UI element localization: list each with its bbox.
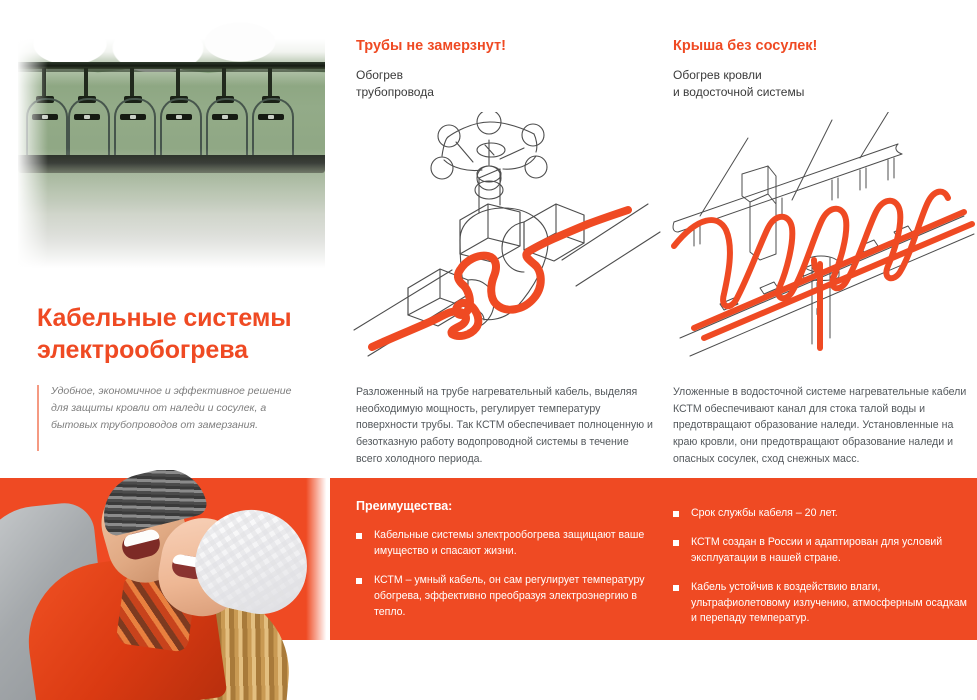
photo-left-fade: [18, 0, 48, 268]
page-title: Кабельные системыэлектрообогрева: [37, 302, 307, 366]
advantages-list-left: Кабельные системы электрообогрева защища…: [356, 528, 656, 633]
page-title-line-1: Кабельные системы: [37, 304, 292, 332]
advantage-item: Кабель устойчив к воздействию влаги, уль…: [673, 580, 973, 628]
advantages-title: Преимущества:: [356, 499, 452, 513]
advantage-item: КСТМ – умный кабель, он сам регулирует т…: [356, 573, 656, 621]
column-roof-subheading: Обогрев кровли и водосточной системы: [673, 67, 973, 101]
brochure-page: Кабельные системыэлектрообогрева Удобное…: [0, 0, 977, 700]
column-roof: Крыша без сосулек! Обогрев кровли и водо…: [673, 38, 973, 101]
hero-lead-text: Удобное, экономичное и эффективное решен…: [51, 383, 301, 434]
cable-clip: [244, 68, 298, 158]
pipe-valve-illustration: [348, 112, 664, 374]
roof-gutter-illustration: [664, 112, 977, 374]
column-pipes-subheading: Обогрев трубопровода: [356, 67, 656, 101]
advantage-item: Кабельные системы электрообогрева защища…: [356, 528, 656, 560]
advantage-item: КСТМ создан в России и адаптирован для у…: [673, 535, 973, 567]
lead-accent-bar: [37, 385, 39, 451]
roof-photo: [18, 0, 325, 268]
column-pipes-heading: Трубы не замерзнут!: [356, 38, 656, 55]
hero-title-block: Кабельные системыэлектрообогрева: [37, 302, 307, 366]
column-pipes-body: Разложенный на трубе нагревательный кабе…: [356, 384, 656, 468]
column-roof-body: Уложенные в водосточной системе нагреват…: [673, 384, 973, 468]
advantage-item: Срок службы кабеля – 20 лет.: [673, 506, 973, 522]
roof-photo-image: [18, 0, 325, 268]
column-roof-heading: Крыша без сосулек!: [673, 38, 973, 55]
cable-clip-row: [18, 68, 325, 158]
photo-bottom-fade: [18, 148, 325, 268]
couple-photo: [0, 470, 330, 700]
photo-right-fade: [306, 470, 330, 700]
page-title-line-2: электрообогрева: [37, 336, 248, 364]
hero-lead-block: Удобное, экономичное и эффективное решен…: [37, 383, 301, 434]
advantages-list-right: Срок службы кабеля – 20 лет. КСТМ создан…: [673, 506, 973, 640]
column-pipes: Трубы не замерзнут! Обогрев трубопровода: [356, 38, 656, 101]
